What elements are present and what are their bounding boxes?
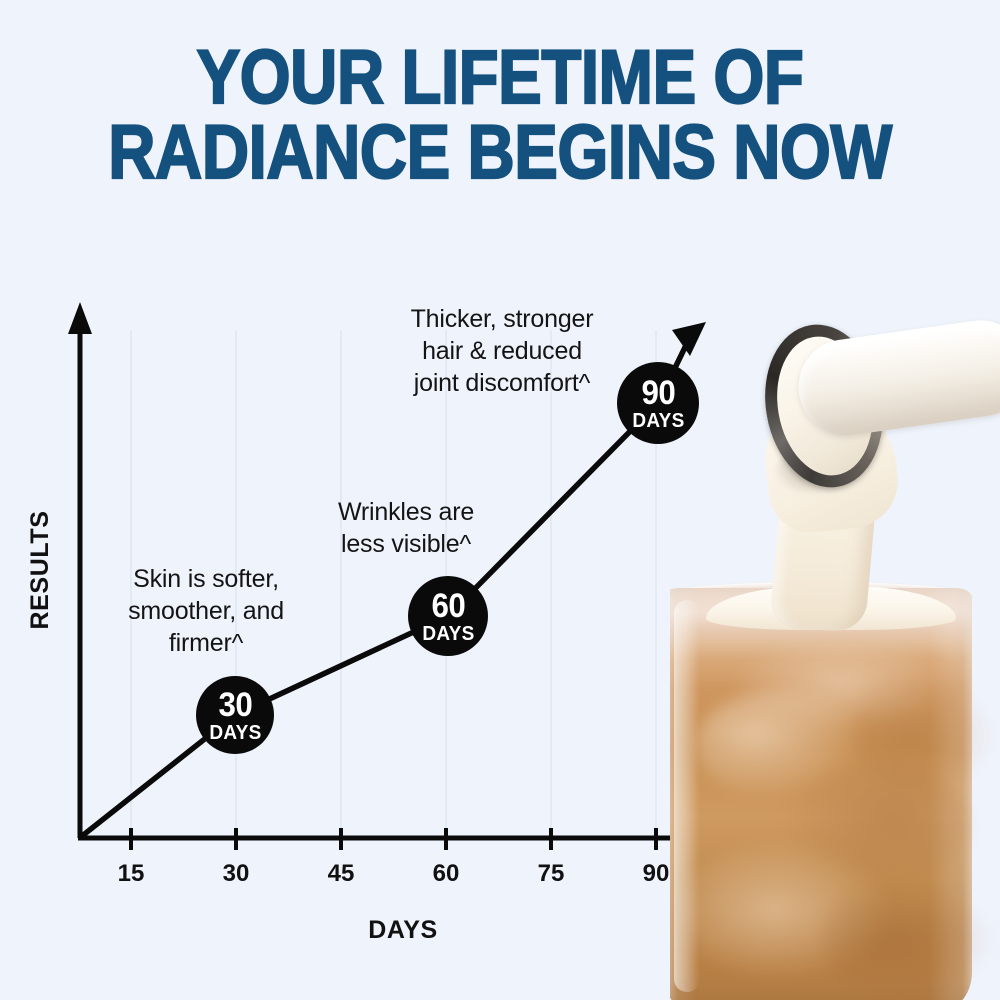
x-tick-label-3: 60: [433, 860, 460, 887]
product-photo: [670, 0, 1000, 1000]
annotation-30-days: Skin is softer, smoother, and firmer^: [84, 563, 328, 659]
x-axis-label: DAYS: [368, 916, 438, 944]
milestone-badge-60-days[interactable]: 60 DAYS: [408, 576, 488, 656]
x-tick-label-5: 90: [643, 860, 670, 887]
x-tick-label-1: 30: [223, 860, 250, 887]
x-tick-label-4: 75: [538, 860, 565, 887]
x-tick-label-2: 45: [328, 860, 355, 887]
glass-highlight: [674, 600, 700, 992]
drink-swirl-4: [820, 880, 1000, 1000]
x-axis: [78, 826, 706, 850]
annotation-60-days: Wrinkles are less visible^: [300, 496, 512, 560]
annotation-90-days: Thicker, stronger hair & reduced joint d…: [376, 303, 628, 399]
y-axis-label: RESULTS: [26, 510, 54, 629]
milestone-30-number: 30: [218, 688, 252, 722]
milestone-60-unit: DAYS: [422, 624, 474, 644]
x-tick-label-0: 15: [118, 860, 145, 887]
milestone-30-unit: DAYS: [209, 723, 261, 743]
poster-canvas: YOUR LIFETIME OF RADIANCE BEGINS NOW: [0, 0, 1000, 1000]
milestone-badge-30-days[interactable]: 30 DAYS: [196, 676, 274, 754]
milestone-60-number: 60: [431, 589, 465, 623]
